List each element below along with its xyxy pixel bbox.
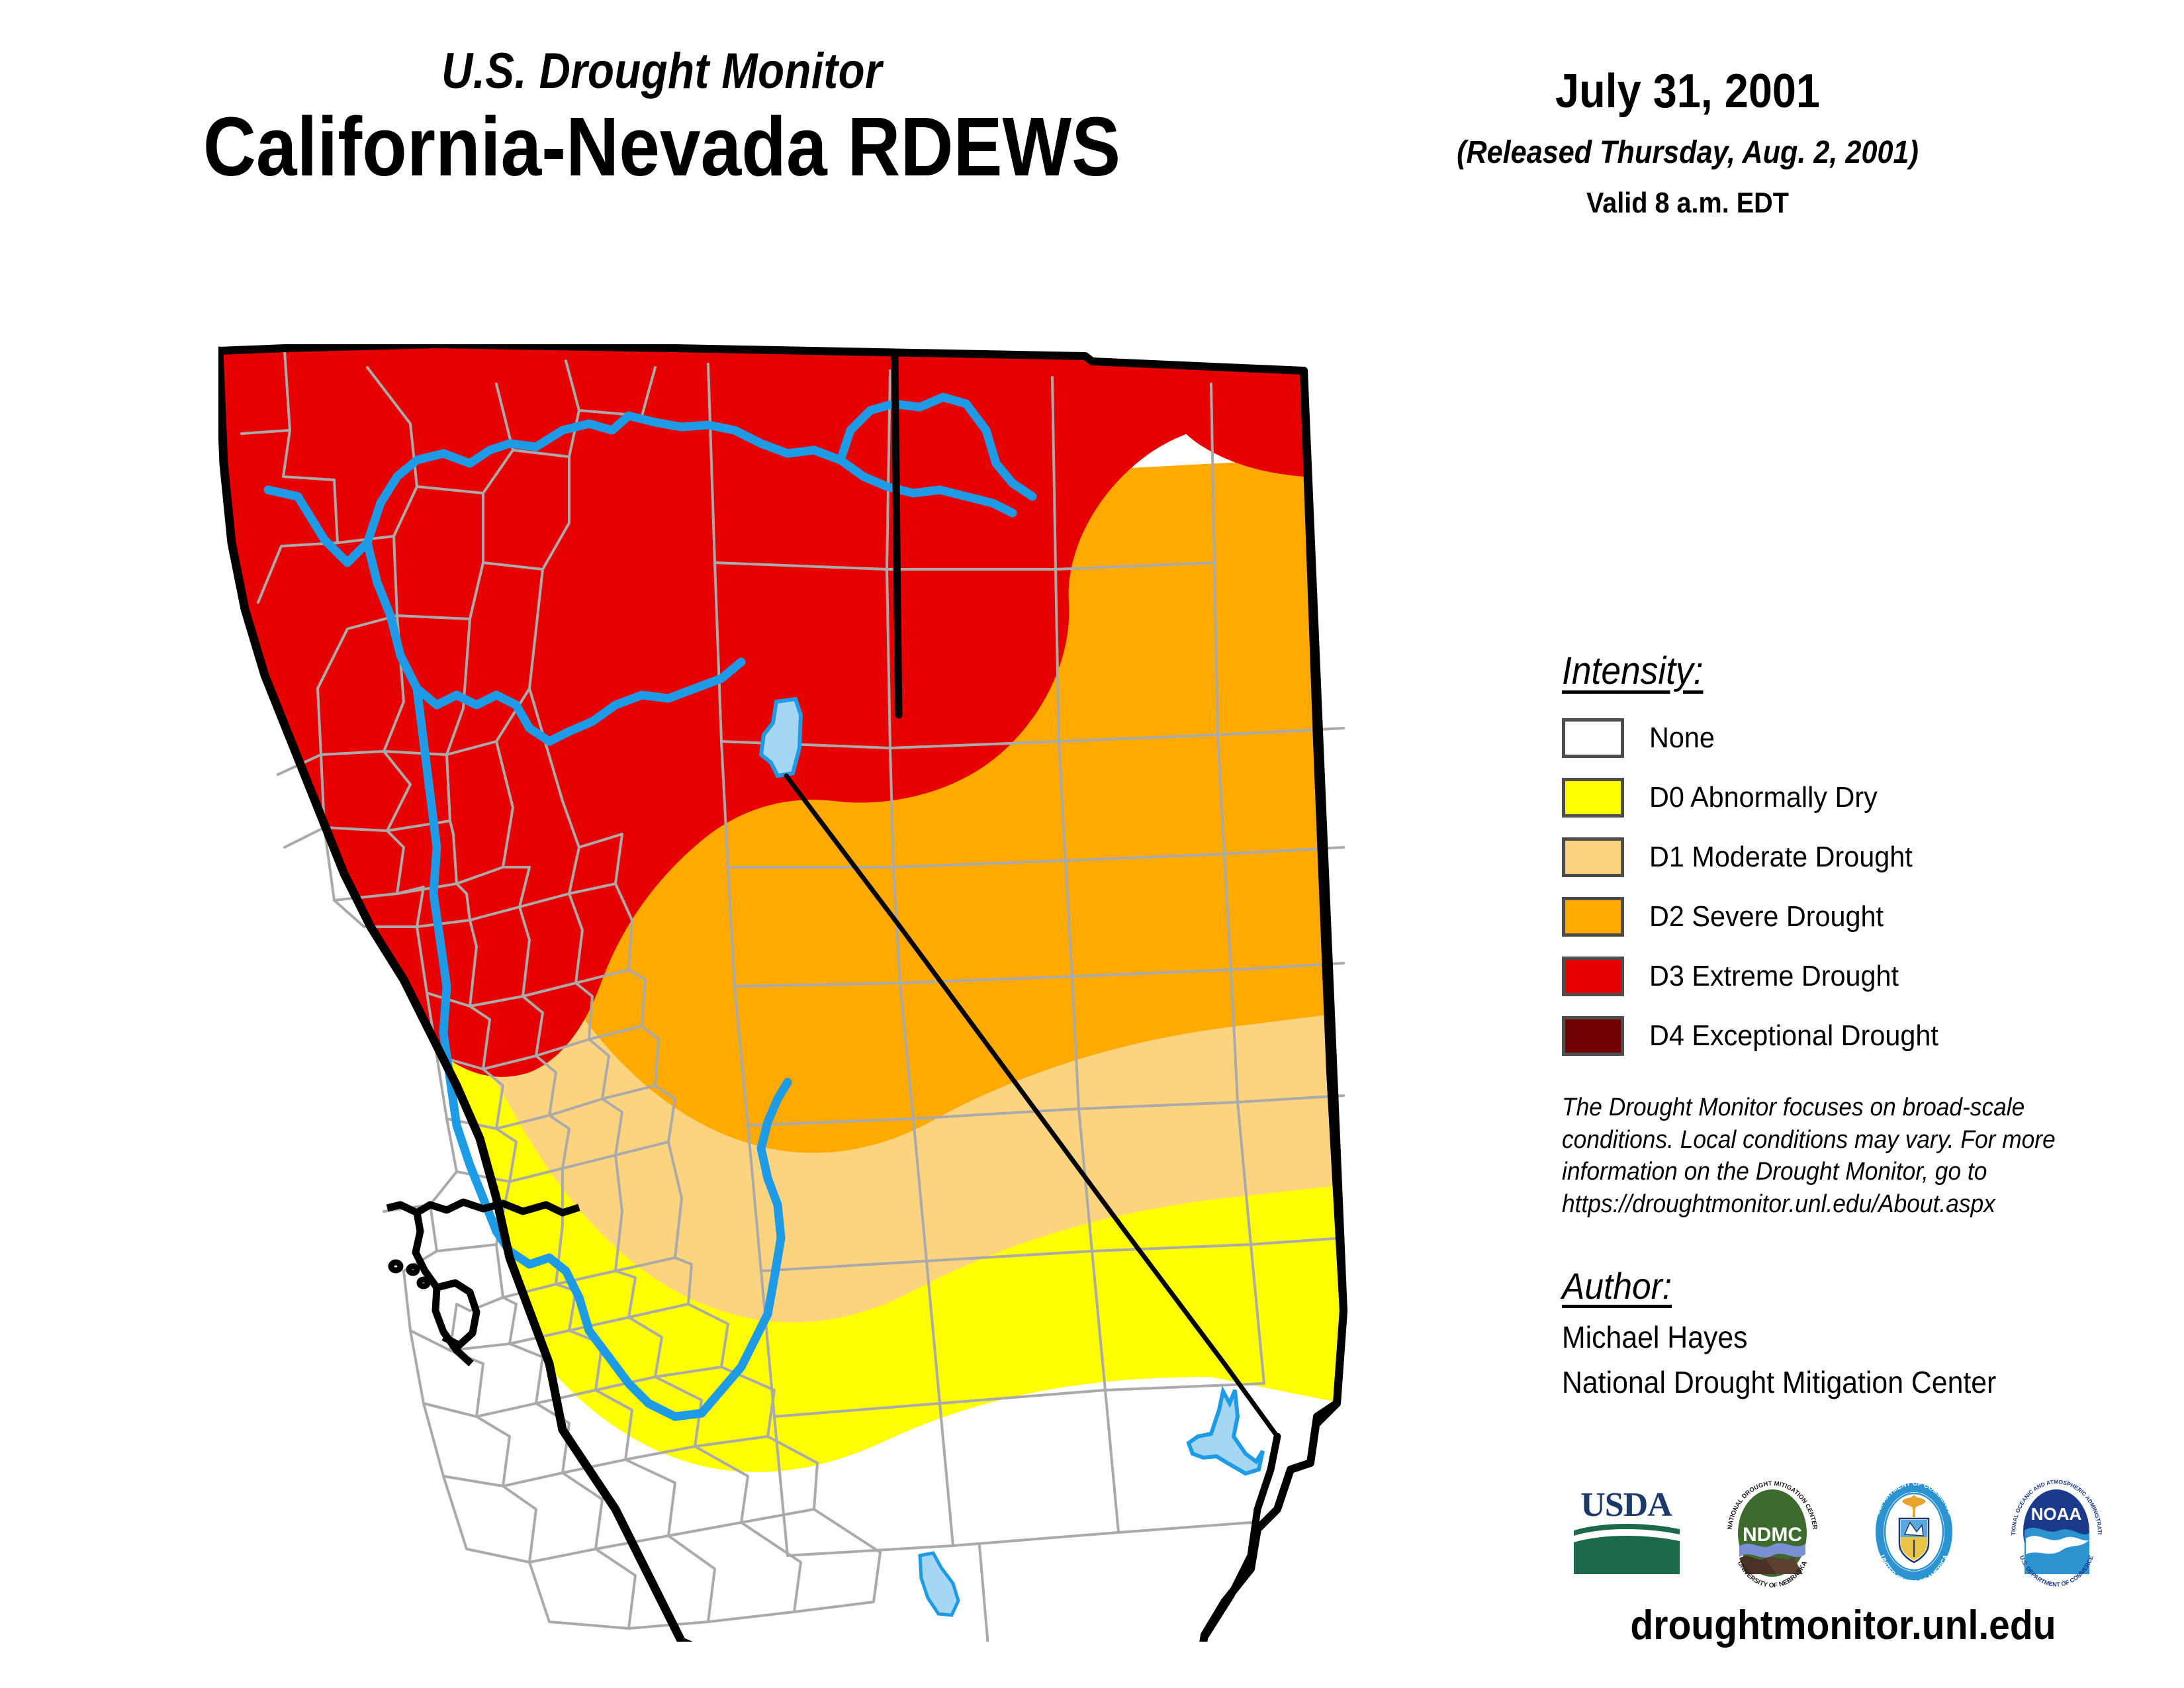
page-supertitle: U.S. Drought Monitor	[127, 46, 1197, 97]
release-date: (Released Thursday, Aug. 2, 2001)	[1420, 132, 1956, 173]
author-heading: Author:	[1562, 1264, 1672, 1307]
disclaimer: The Drought Monitor focuses on broad-sca…	[1562, 1092, 2079, 1221]
disclaimer-line-3: information on the Drought Monitor, go t…	[1562, 1156, 2079, 1188]
map-svg	[218, 344, 1410, 1642]
legend-item-d1[interactable]: D1 Moderate Drought	[1562, 832, 2158, 882]
legend-label-none: None	[1649, 722, 1715, 755]
legend-swatch-d0	[1562, 778, 1624, 818]
usda-logo-svg: USDA	[1569, 1481, 1684, 1581]
valid-date: July 31, 2001	[1420, 61, 1956, 123]
page-title: California-Nevada RDEWS	[114, 102, 1209, 192]
legend-item-d3[interactable]: D3 Extreme Drought	[1562, 951, 2158, 1002]
doc-seal-logo[interactable]: DEPARTMENT OF COMMERCE UNITED STATES OF …	[1861, 1475, 1967, 1591]
legend-item-d2[interactable]: D2 Severe Drought	[1562, 892, 2158, 942]
svg-text:NDMC: NDMC	[1743, 1524, 1802, 1546]
author-organization: National Drought Mitigation Center	[1562, 1364, 2116, 1400]
legend-label-d3: D3 Extreme Drought	[1649, 960, 1899, 993]
svg-text:NOAA: NOAA	[2031, 1504, 2082, 1524]
legend-swatch-none	[1562, 718, 1624, 758]
drought-map[interactable]	[218, 344, 1410, 1642]
date-block: July 31, 2001 (Released Thursday, Aug. 2…	[1390, 61, 1985, 222]
footer-url[interactable]: droughtmonitor.unl.edu	[1590, 1602, 2096, 1649]
legend-swatch-d2	[1562, 897, 1624, 937]
legend-swatch-d3	[1562, 957, 1624, 996]
legend-panel: Intensity: None D0 Abnormally Dry D1 Mod…	[1562, 649, 2158, 1400]
legend-label-d2: D2 Severe Drought	[1649, 900, 1884, 933]
noaa-logo-svg: NOAA NATIONAL OCEANIC AND ATMOSPHERIC AD…	[2002, 1475, 2111, 1587]
header: U.S. Drought Monitor California-Nevada R…	[0, 0, 2184, 265]
logo-row: USDA NDMC NATIONAL DROUGHT MITIGATION CE…	[1569, 1466, 2111, 1599]
legend-item-d4[interactable]: D4 Exceptional Drought	[1562, 1011, 2158, 1061]
legend-item-none[interactable]: None	[1562, 713, 2158, 763]
title-group: U.S. Drought Monitor California-Nevada R…	[40, 46, 1284, 192]
legend-label-d4: D4 Exceptional Drought	[1649, 1019, 1938, 1053]
legend-label-d1: D1 Moderate Drought	[1649, 841, 1913, 874]
legend-label-d0: D0 Abnormally Dry	[1649, 781, 1878, 814]
ndmc-logo[interactable]: NDMC NATIONAL DROUGHT MITIGATION CENTER …	[1719, 1475, 1825, 1591]
disclaimer-link[interactable]: https://droughtmonitor.unl.edu/About.asp…	[1562, 1188, 2079, 1221]
legend-swatch-d4	[1562, 1016, 1624, 1056]
valid-time: Valid 8 a.m. EDT	[1420, 184, 1956, 222]
legend-swatch-d1	[1562, 837, 1624, 877]
noaa-logo[interactable]: NOAA NATIONAL OCEANIC AND ATMOSPHERIC AD…	[2002, 1475, 2111, 1591]
doc-seal-svg: DEPARTMENT OF COMMERCE UNITED STATES OF …	[1861, 1475, 1967, 1587]
usda-logo[interactable]: USDA	[1569, 1481, 1684, 1584]
svg-text:USDA: USDA	[1580, 1486, 1672, 1524]
legend-title: Intensity:	[1562, 649, 1704, 693]
ndmc-logo-svg: NDMC NATIONAL DROUGHT MITIGATION CENTER …	[1719, 1475, 1825, 1587]
disclaimer-line-2: conditions. Local conditions may vary. F…	[1562, 1124, 2079, 1156]
legend-item-d0[interactable]: D0 Abnormally Dry	[1562, 773, 2158, 823]
disclaimer-line-1: The Drought Monitor focuses on broad-sca…	[1562, 1092, 2079, 1124]
author-name: Michael Hayes	[1562, 1319, 2116, 1355]
